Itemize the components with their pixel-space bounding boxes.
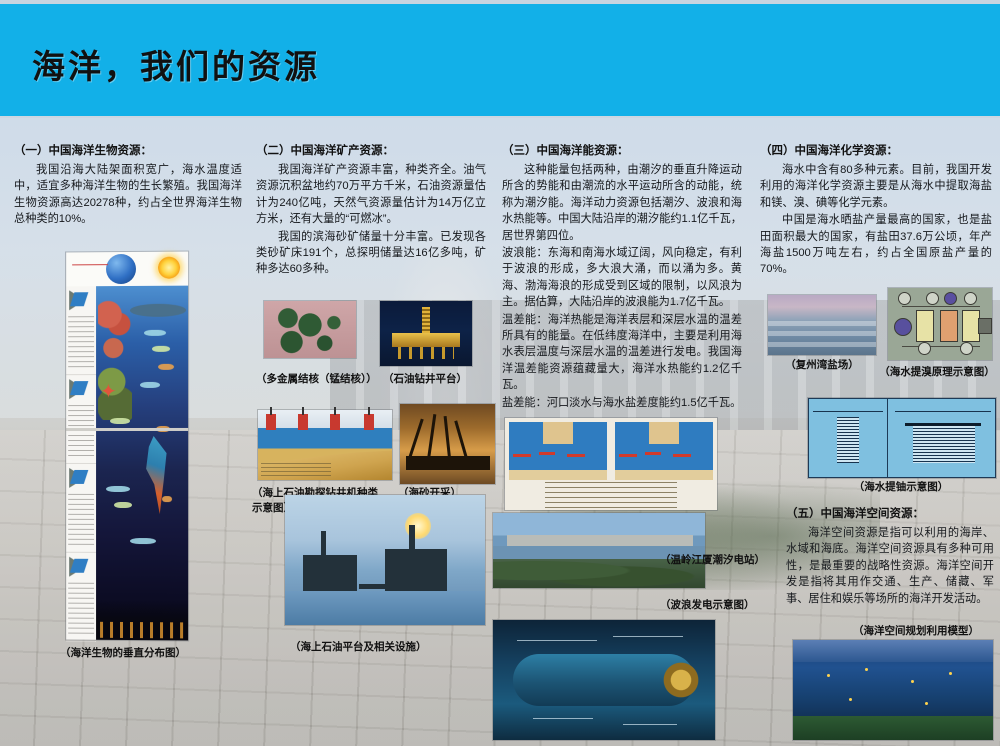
rig-unit: [364, 414, 374, 430]
fish-illustration: [110, 418, 130, 424]
figure-seawater-uranium-extraction-diagram: [808, 398, 996, 478]
platform-legs: [398, 347, 454, 359]
figure-oil-drilling-platform: [380, 301, 472, 366]
dam-structure: [507, 535, 693, 546]
section-chemistry-title: （四）中国海洋化学资源：: [760, 143, 992, 160]
caption-oil-drilling-platform: （石油钻井平台）: [383, 372, 493, 387]
section-mineral-paragraph-2: 我国的滨海砂矿储量十分丰富。已发现各类砂矿床191个，总探明储量达16亿多吨，矿…: [256, 229, 486, 278]
sea-surface: [285, 591, 485, 625]
ocean-cross-section: ✦: [96, 286, 188, 641]
turbine-ring: [657, 654, 705, 706]
legend-cell: [66, 375, 96, 464]
section-mineral: （二）中国海洋矿产资源： 我国海洋矿产资源丰富，种类齐全。油气资源沉积盆地约70…: [256, 143, 486, 279]
poster-title: 海洋，我们的资源: [32, 40, 320, 88]
caption-fuzhou-bay-salt-field: （复州湾盐场）: [764, 358, 880, 373]
rig-unit: [298, 414, 308, 430]
sky-band: [793, 640, 993, 662]
legend-cell: [66, 286, 96, 375]
caption-seawater-uranium-extraction-diagram: （海水提铀示意图）: [808, 480, 994, 495]
diagram-annotation-text: [261, 463, 331, 477]
figure-offshore-drilling-rig-types: [258, 410, 392, 480]
whale-illustration: [130, 304, 186, 317]
sun-icon: [158, 257, 180, 279]
section-biology-paragraph-1: 我国沿海大陆架面积宽广，海水温度适中，适宜多种海洋生物的生长繁殖。我国海洋生物资…: [14, 162, 242, 228]
rig-unit: [330, 414, 340, 430]
section-chemistry: （四）中国海洋化学资源： 海水中含有80多种元素。目前，我国开发利用的海洋化学资…: [760, 143, 992, 279]
coastal-land: [793, 716, 993, 740]
fish-illustration: [130, 538, 156, 544]
starfish-icon: ✦: [100, 382, 122, 404]
section-energy-paragraph-3: 温差能：海洋热能是海洋表层和深层水温的温差所具有的能量。在低纬度海洋中，主要是利…: [502, 312, 742, 394]
fish-illustration: [162, 496, 172, 502]
section-energy-title: （三）中国海洋能资源：: [502, 143, 742, 160]
platform-deck: [392, 333, 460, 347]
figure-tidal-power-principle: [505, 418, 717, 510]
figure-fuzhou-bay-salt-field: [768, 295, 876, 355]
figure-polymetallic-nodule: [264, 301, 356, 358]
fish-illustration: [114, 502, 132, 508]
section-mineral-paragraph-1: 我国海洋矿产资源丰富，种类齐全。油气资源沉积盆地约70万平方千米，石油资源量估计…: [256, 162, 486, 228]
figure-offshore-oil-platform-facilities: [285, 495, 485, 625]
tidal-diagram-left: [509, 422, 607, 480]
caption-wenling-jiangxia-tidal-power-station: （温岭江厦潮汐电站）: [660, 553, 780, 568]
section-mineral-title: （二）中国海洋矿产资源：: [256, 143, 486, 160]
figure-marine-life-vertical-distribution: ✦: [66, 252, 188, 641]
diagram-annotation-text: [545, 482, 677, 508]
header-banner: 海洋，我们的资源: [0, 4, 1000, 116]
rig-unit: [266, 414, 276, 430]
caption-marine-spatial-planning-model: （海洋空间规划利用模型）: [836, 624, 996, 639]
section-biology: （一）中国海洋生物资源： 我国沿海大陆架面积宽广，海水温度适中，适宜多种海洋生物…: [14, 143, 242, 229]
caption-wave-power-generation-diagram: （波浪发电示意图）: [660, 598, 780, 613]
diagram-legend-column: [66, 286, 96, 640]
section-biology-title: （一）中国海洋生物资源：: [14, 143, 242, 160]
figure-wenling-jiangxia-tidal-power-station: [493, 513, 705, 588]
section-energy-paragraph-2: 波浪能：东海和南海水域辽阔，风向稳定，有利于波浪的形成，多大浪大涌，而以涌为多。…: [502, 245, 742, 311]
light-ray: [72, 264, 108, 265]
figure-marine-spatial-planning-model: [793, 640, 993, 740]
caption-polymetallic-nodule: （多金属结核（锰结核））: [256, 372, 376, 387]
caption-marine-life-vertical-distribution: （海洋生物的垂直分布图）: [60, 646, 240, 661]
diagram-sun-globe-header: [66, 252, 188, 287]
figure-wave-power-generation-diagram: [493, 620, 715, 740]
fish-illustration: [106, 486, 130, 492]
caption-offshore-oil-platform-facilities: （海上石油平台及相关设施）: [290, 640, 480, 655]
figure-sea-sand-mining: [400, 404, 495, 484]
section-energy-paragraph-1: 这种能量包括两种，由潮汐的垂直升降运动所含的势能和由潮流的水平运动所含的动能，统…: [502, 162, 742, 244]
derrick-tower: [422, 307, 430, 333]
squid-illustration: [140, 436, 174, 514]
poster-canvas: 海洋，我们的资源 （一）中国海洋生物资源： 我国沿海大陆架面积宽广，海水温度适中…: [0, 0, 1000, 746]
globe-icon: [106, 254, 136, 284]
panel-divider: [66, 428, 188, 431]
fish-illustration: [152, 346, 170, 352]
section-space-title: （五）中国海洋空间资源：: [786, 506, 994, 523]
section-chemistry-paragraph-1: 海水中含有80多种元素。目前，我国开发利用的海洋化学资源主要是从海水中提取海盐和…: [760, 162, 992, 211]
fish-illustration: [140, 382, 160, 388]
caption-seawater-bromine-extraction-diagram: （海水提溴原理示意图）: [876, 365, 998, 380]
tidal-diagram-right: [615, 422, 713, 480]
hydrothermal-vent-community: [100, 622, 184, 639]
section-space: （五）中国海洋空间资源： 海洋空间资源是指可以利用的海岸、水域和海底。海洋空间资…: [786, 506, 994, 608]
fish-illustration: [158, 364, 174, 370]
section-chemistry-paragraph-2: 中国是海水晒盐产量最高的国家，也是盐田面积最大的国家，有盐田37.6万公顷，年产…: [760, 212, 992, 278]
section-energy: （三）中国海洋能资源： 这种能量包括两种，由潮汐的垂直升降运动所含的势能和由潮流…: [502, 143, 742, 412]
figure-seawater-bromine-extraction-diagram: [888, 288, 992, 360]
section-space-paragraph-1: 海洋空间资源是指可以利用的海岸、水域和海底。海洋空间资源具有多种可用性，是最重要…: [786, 525, 994, 607]
legend-cell: [66, 464, 96, 553]
section-energy-paragraph-4: 盐差能：河口淡水与海水盐差度能约1.5亿千瓦。: [502, 395, 742, 411]
legend-cell: [66, 553, 96, 642]
fish-illustration: [144, 330, 166, 336]
